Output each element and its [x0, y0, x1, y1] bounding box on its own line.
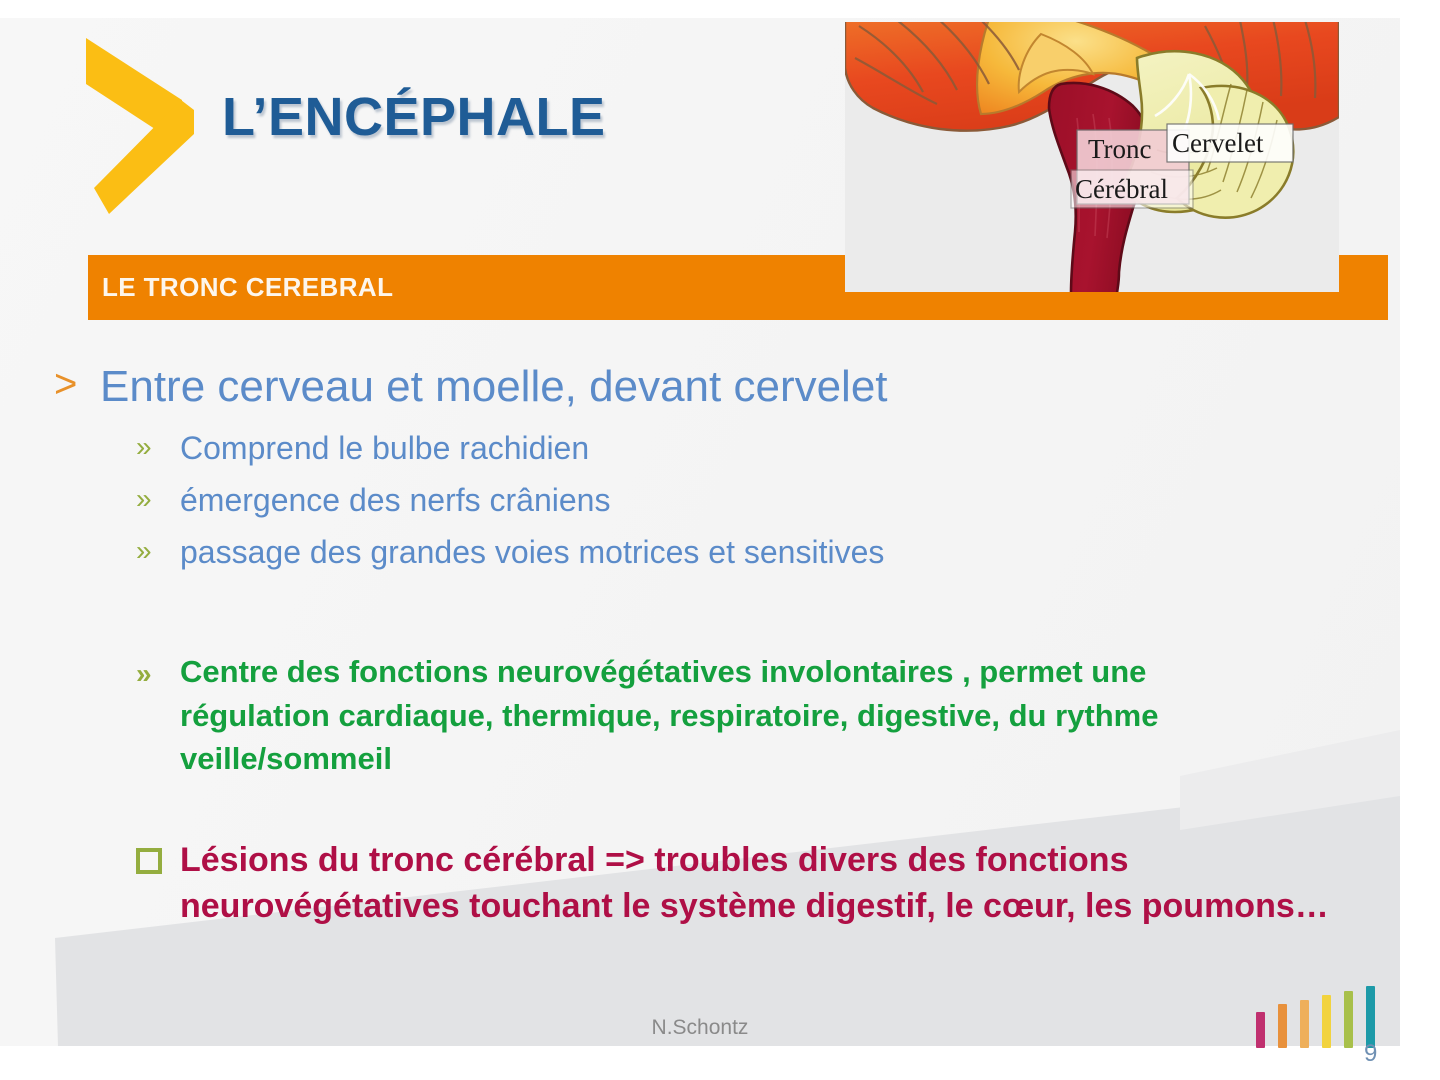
- bullet-main-marker: >: [54, 362, 77, 408]
- bullet-sub-text: émergence des nerfs crâniens: [180, 482, 610, 518]
- brain-diagram-image: Tronc Cérébral Cervelet: [845, 22, 1339, 292]
- slide-root: L’ENCÉPHALE LE TRONC CEREBRAL: [0, 0, 1440, 1080]
- accent-bar: [1300, 1000, 1309, 1048]
- slide-body: > Entre cerveau et moelle, devant cervel…: [40, 362, 1370, 929]
- footer-author: N.Schontz: [0, 1016, 1400, 1040]
- bullet-green-highlight: » Centre des fonctions neurovégétatives …: [40, 650, 1300, 780]
- bullet-sub-text: Comprend le bulbe rachidien: [180, 430, 589, 466]
- bullet-green-text: Centre des fonctions neurovégétatives in…: [180, 654, 1158, 776]
- bullet-sub-marker: »: [136, 433, 152, 461]
- bullet-sub-2: » émergence des nerfs crâniens: [40, 484, 1370, 516]
- bullet-main: > Entre cerveau et moelle, devant cervel…: [40, 362, 1370, 412]
- bullet-green-marker: »: [136, 654, 152, 693]
- chevron-arrow-icon: [84, 38, 194, 214]
- bullet-lesions: Lésions du tronc cérébral => troubles di…: [40, 838, 1370, 929]
- spacer: [40, 568, 1370, 630]
- accent-bar: [1256, 1012, 1265, 1048]
- label-cervelet: Cervelet: [1172, 128, 1264, 158]
- page-title: L’ENCÉPHALE: [222, 86, 606, 148]
- bullet-sub-text: passage des grandes voies motrices et se…: [180, 534, 884, 570]
- bullet-sub-1: » Comprend le bulbe rachidien: [40, 432, 1370, 464]
- label-tronc: Tronc: [1088, 134, 1152, 164]
- decorative-color-bars: [1256, 986, 1386, 1048]
- page-number: 9: [1364, 1040, 1377, 1068]
- accent-bar: [1344, 991, 1353, 1048]
- accent-bar: [1366, 986, 1375, 1048]
- accent-bar: [1278, 1004, 1287, 1048]
- bullet-sub-3: » passage des grandes voies motrices et …: [40, 536, 1370, 568]
- bullet-lesions-text: Lésions du tronc cérébral => troubles di…: [180, 841, 1329, 925]
- bullet-sub-marker: »: [136, 485, 152, 513]
- accent-bar: [1322, 995, 1331, 1048]
- checkbox-square-icon: [136, 848, 162, 874]
- bullet-main-text: Entre cerveau et moelle, devant cervelet: [100, 362, 888, 411]
- section-banner-label: LE TRONC CEREBRAL: [102, 272, 393, 303]
- bullet-sub-marker: »: [136, 537, 152, 565]
- label-cerebral: Cérébral: [1075, 174, 1168, 204]
- spacer: [40, 780, 1370, 838]
